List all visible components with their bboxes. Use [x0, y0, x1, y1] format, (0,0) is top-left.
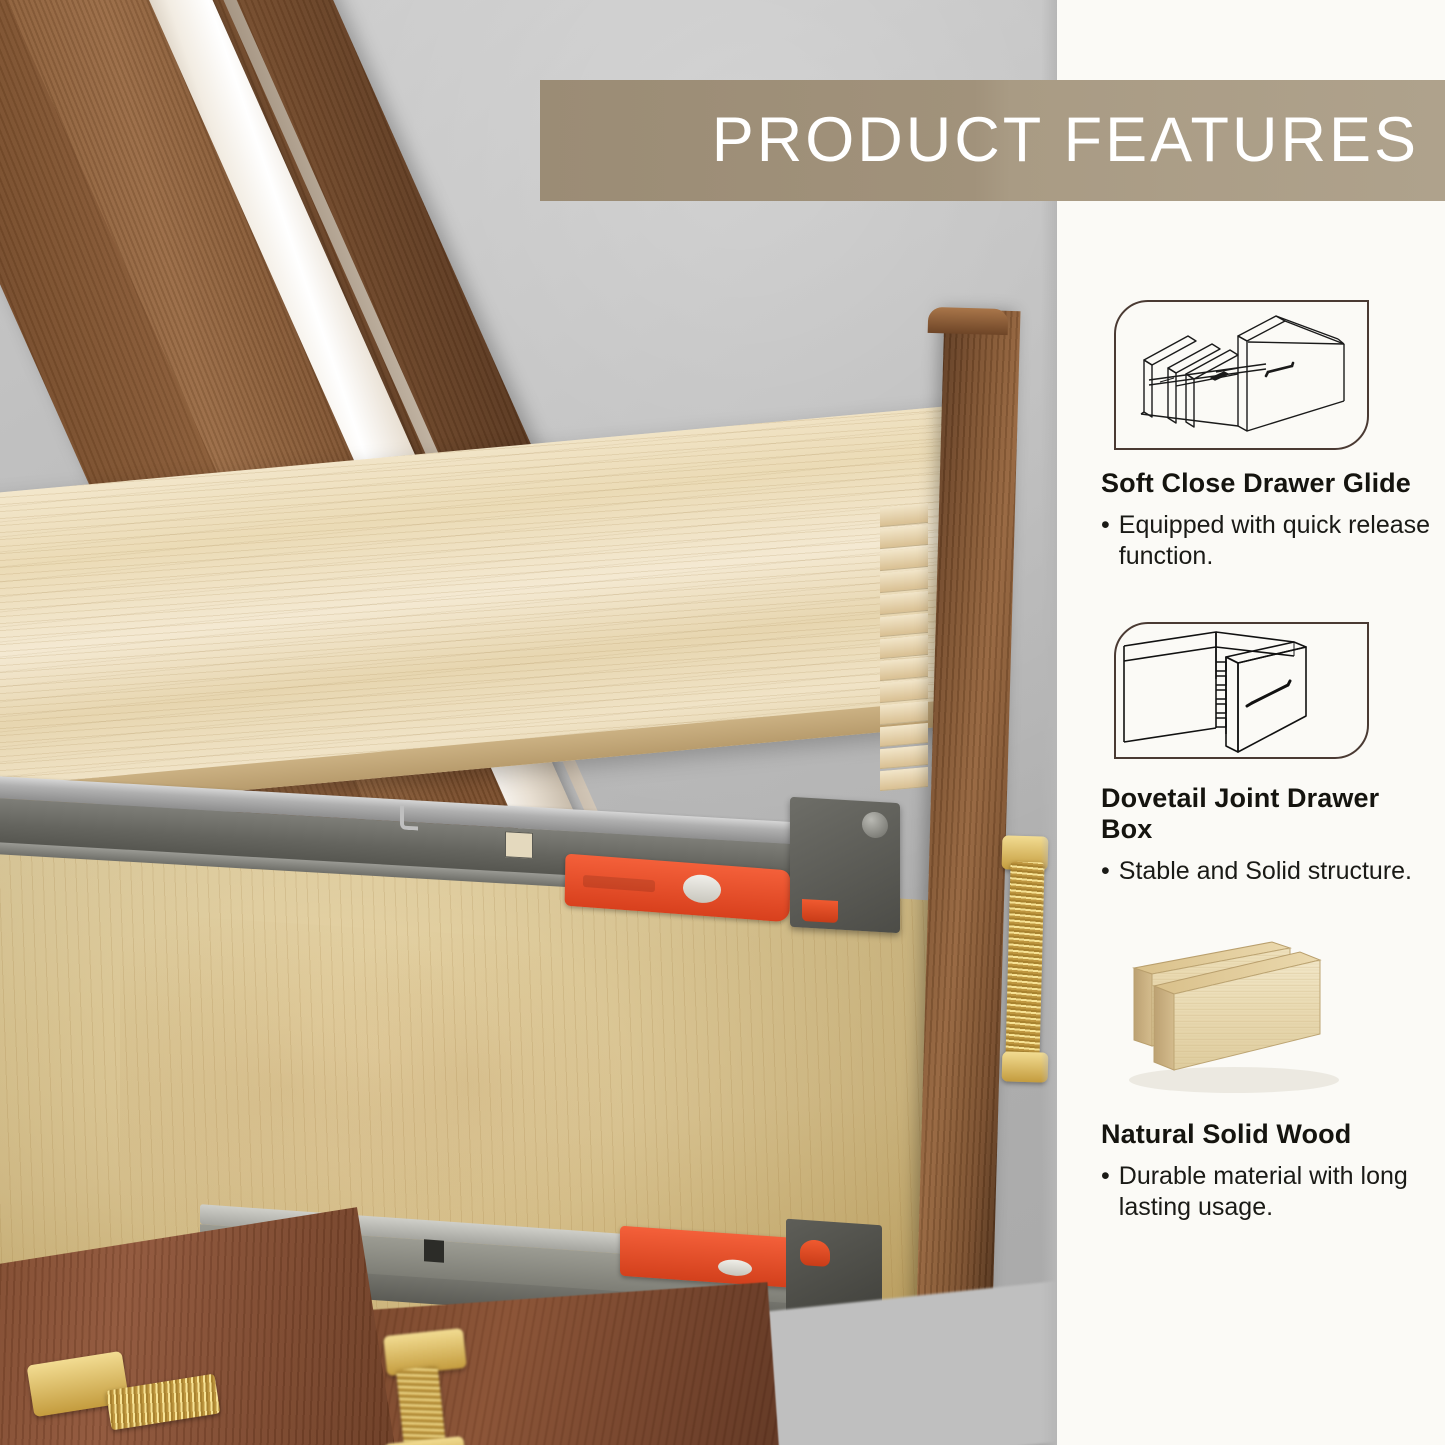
brass-knurled-handle-right — [1005, 862, 1044, 1063]
feature-text: Soft Close Drawer Glide • Equipped with … — [1101, 468, 1431, 571]
feature-block-soft-close-drawer-glide: Soft Close Drawer Glide • Equipped with … — [1101, 300, 1431, 571]
dovetail-drawer-icon — [1114, 622, 1369, 759]
product-features-infographic: PRODUCT FEATURES — [0, 0, 1445, 1445]
bullet-text: Equipped with quick release function. — [1119, 510, 1431, 571]
feature-block-natural-solid-wood: Natural Solid Wood • Durable material wi… — [1101, 930, 1431, 1222]
drawer-glide-icon — [1114, 300, 1369, 450]
bullet-marker: • — [1101, 510, 1110, 571]
photo-right-edge — [1041, 0, 1057, 1445]
page-title: PRODUCT FEATURES — [712, 109, 1445, 172]
walnut-frame-stile-top — [928, 307, 1009, 335]
orange-adjust-tab-upper — [802, 899, 838, 923]
header-banner: PRODUCT FEATURES — [540, 80, 1445, 201]
feature-text: Natural Solid Wood • Durable material wi… — [1101, 1119, 1431, 1222]
feature-text: Dovetail Joint Drawer Box • Stable and S… — [1101, 783, 1431, 887]
product-photo — [0, 0, 1057, 1445]
feature-bullet: • Equipped with quick release function. — [1101, 510, 1431, 571]
feature-block-dovetail-joint-drawer-box: Dovetail Joint Drawer Box • Stable and S… — [1101, 622, 1431, 887]
bullet-text: Stable and Solid structure. — [1119, 856, 1431, 887]
feature-title: Dovetail Joint Drawer Box — [1101, 783, 1431, 845]
upper-rail-hook — [400, 805, 418, 830]
feature-bullet: • Durable material with long lasting usa… — [1101, 1161, 1431, 1222]
feature-title: Soft Close Drawer Glide — [1101, 468, 1431, 499]
bullet-marker: • — [1101, 1161, 1110, 1222]
lower-rail-notch — [424, 1239, 444, 1262]
brass-knurled-handle-back — [396, 1366, 446, 1445]
feature-title: Natural Solid Wood — [1101, 1119, 1431, 1150]
bullet-marker: • — [1101, 856, 1110, 887]
bullet-text: Durable material with long lasting usage… — [1119, 1161, 1431, 1222]
feature-bullet: • Stable and Solid structure. — [1101, 856, 1431, 887]
upper-rail-notch — [505, 831, 533, 859]
bracket-screw — [862, 811, 888, 838]
wood-planks-icon — [1114, 930, 1369, 1105]
